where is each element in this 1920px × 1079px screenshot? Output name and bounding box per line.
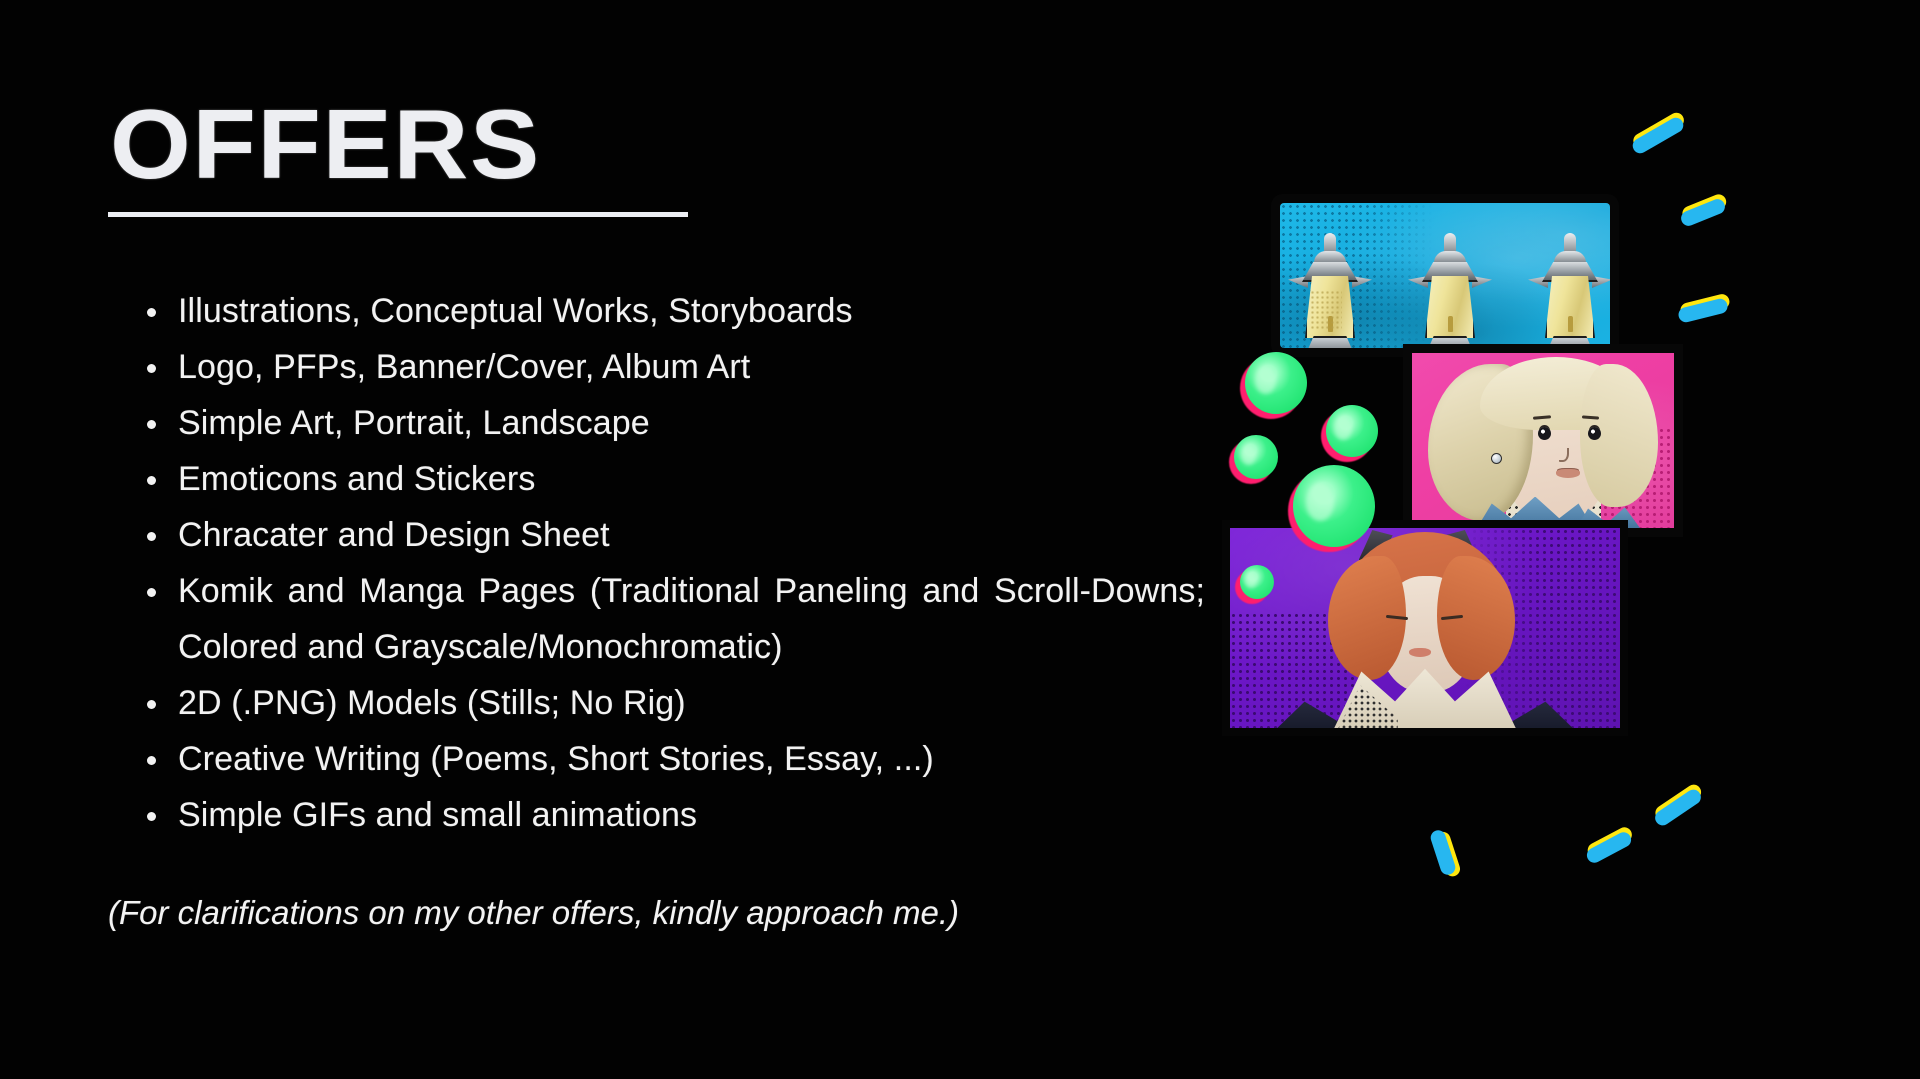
slide-canvas: OFFERS Illustrations, Conceptual Works, … [0,0,1920,1079]
green-blob-decoration [1245,352,1307,414]
horned-character-figure [1230,528,1620,728]
list-item: Simple Art, Portrait, Landscape [140,395,1215,451]
lantern-icon [1296,222,1364,348]
dash-stroke-decoration [1584,830,1633,866]
list-item: Emoticons and Stickers [140,451,1215,507]
dash-stroke-decoration [1652,787,1703,829]
list-item: Chracater and Design Sheet [140,507,1215,563]
offers-list: Illustrations, Conceptual Works, Storybo… [140,283,1215,843]
list-item: Illustrations, Conceptual Works, Storybo… [140,283,1215,339]
list-item: Komik and Manga Pages (Traditional Panel… [140,563,1205,675]
list-item: 2D (.PNG) Models (Stills; No Rig) [140,675,1215,731]
lantern-icon [1416,222,1484,348]
text-column: OFFERS Illustrations, Conceptual Works, … [0,0,1230,1079]
horned-character-artwork-panel [1230,528,1620,728]
title-underline-rule [108,212,688,217]
list-item: Creative Writing (Poems, Short Stories, … [140,731,1215,787]
blonde-character-artwork-panel [1412,353,1674,528]
list-item: Logo, PFPs, Banner/Cover, Album Art [140,339,1215,395]
blonde-character-figure [1412,353,1674,528]
list-item: Simple GIFs and small animations [140,787,1215,843]
page-title-wrapper: OFFERS [110,96,690,192]
page-title: OFFERS [110,96,725,192]
dash-stroke-decoration [1630,115,1686,156]
lanterns-artwork-panel [1280,203,1610,348]
green-blob-decoration [1326,405,1378,457]
artwork-collage [1230,0,1920,1079]
lantern-icon [1536,222,1604,348]
green-blob-decoration [1293,465,1375,547]
footnote-text: (For clarifications on my other offers, … [108,891,959,935]
green-blob-decoration [1240,565,1274,599]
green-blob-decoration [1234,435,1278,479]
dash-stroke-decoration [1677,297,1729,324]
dash-stroke-decoration [1679,197,1727,228]
dash-stroke-decoration [1429,828,1457,876]
